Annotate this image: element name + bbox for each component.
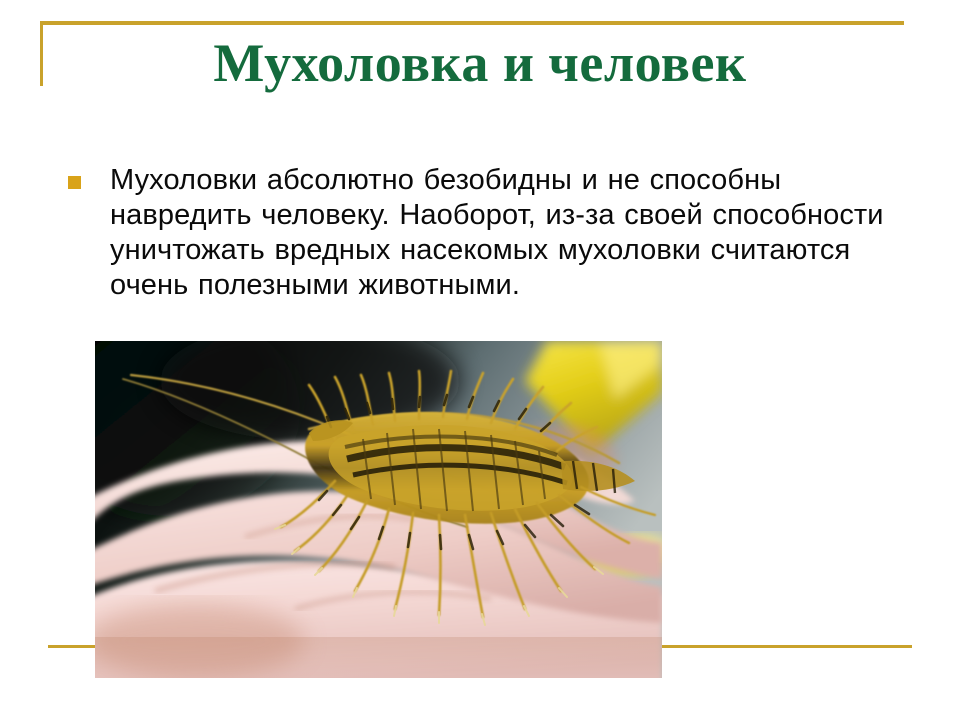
slide-title: Мухоловка и человек [0, 31, 960, 95]
top-gold-rule [40, 21, 904, 25]
square-bullet-icon [68, 176, 81, 189]
bullet-item-text: Мухоловки абсолютно безобидны и не спосо… [110, 163, 928, 303]
house-centipede-on-hand-photo [95, 341, 662, 678]
photo-illustration [95, 341, 662, 678]
presentation-slide: Мухоловка и человек Мухоловки абсолютно … [0, 0, 960, 720]
list-item: Мухоловки абсолютно безобидны и не спосо… [68, 163, 928, 303]
bullet-list: Мухоловки абсолютно безобидны и не спосо… [68, 163, 928, 303]
